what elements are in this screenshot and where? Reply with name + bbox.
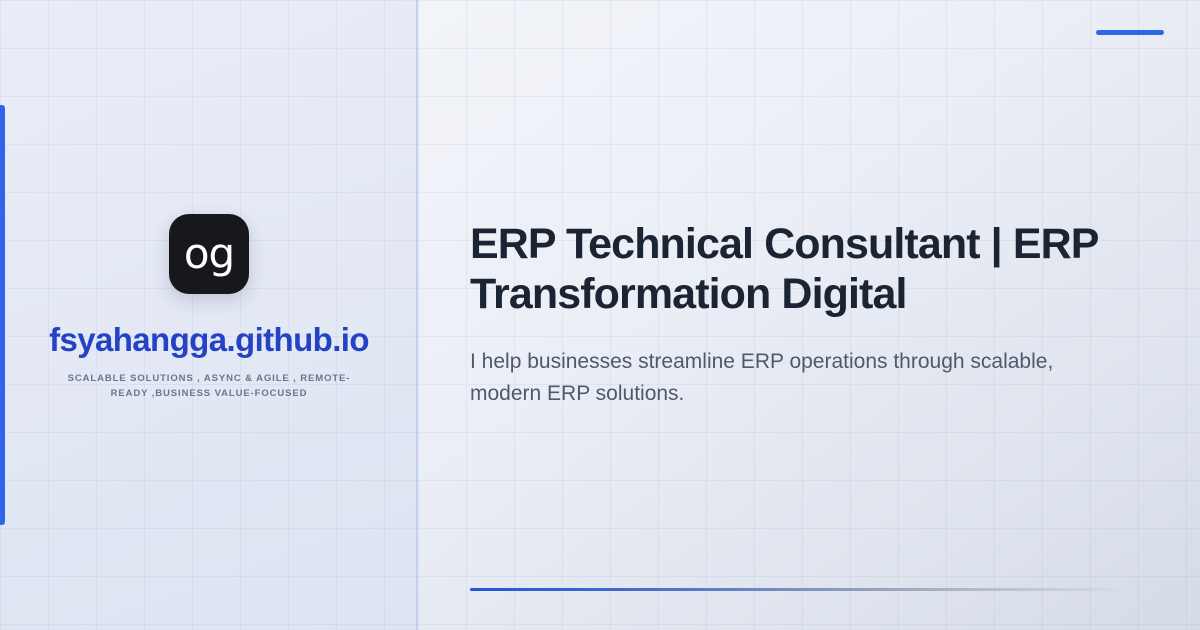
content-panel: ERP Technical Consultant | ERP Transform… [418, 0, 1200, 630]
top-right-accent-bar [1096, 30, 1164, 35]
site-name: fsyahangga.github.io [49, 322, 369, 358]
brand-block: og fsyahangga.github.io SCALABLE SOLUTIO… [49, 214, 369, 402]
brand-tagline: SCALABLE SOLUTIONS , ASYNC & AGILE , REM… [59, 372, 359, 401]
brand-panel: og fsyahangga.github.io SCALABLE SOLUTIO… [0, 0, 418, 630]
og-preview-card: og fsyahangga.github.io SCALABLE SOLUTIO… [0, 0, 1200, 630]
bottom-accent-rule [470, 588, 1130, 591]
left-accent-bar [0, 105, 5, 525]
page-subtitle: I help businesses streamline ERP operati… [470, 346, 1070, 411]
og-logo-text: og [184, 233, 234, 275]
page-title: ERP Technical Consultant | ERP Transform… [470, 219, 1100, 320]
og-logo-tile: og [169, 214, 249, 294]
